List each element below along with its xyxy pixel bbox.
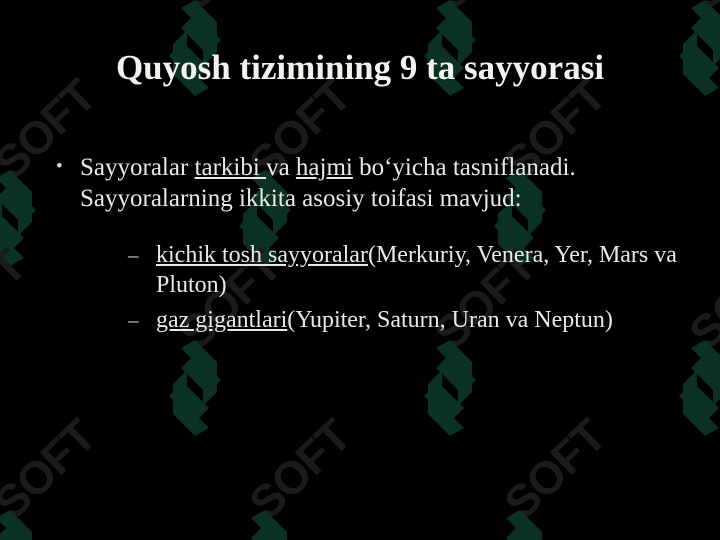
slide-title: Quyosh tizimining 9 ta sayyorasi [36,47,684,89]
bullet-item: •Sayyoralar tarkibi va hajmi bo‘yicha ta… [44,152,684,335]
sub-bullet-text: kichik tosh sayyoralar(Merkuriy, Venera,… [156,240,684,300]
bullet-list: •Sayyoralar tarkibi va hajmi bo‘yicha ta… [44,152,684,335]
sub-bullet-marker-icon: – [128,240,139,270]
slide-body: •Sayyoralar tarkibi va hajmi bo‘yicha ta… [44,152,684,340]
sub-bullet-text-segment: kichik tosh sayyoralar [156,242,368,268]
sub-bullet-text-segment: gaz gigantlari [156,307,287,333]
bullet-text-segment: Sayyoralar [80,154,195,181]
slide-content: Quyosh tizimining 9 ta sayyorasi •Sayyor… [0,0,720,540]
sub-bullet-list: –kichik tosh sayyoralar(Merkuriy, Venera… [80,240,684,335]
bullet-text-segment: va [266,154,296,181]
sub-bullet-text: gaz gigantlari(Yupiter, Saturn, Uran va … [156,305,684,335]
bullet-text: Sayyoralar tarkibi va hajmi bo‘yicha tas… [80,152,684,214]
sub-bullet-marker-icon: – [128,305,139,335]
bullet-text-segment: tarkibi [195,154,267,181]
sub-bullet-text-segment: (Yupiter, Saturn, Uran va Neptun) [287,307,613,333]
sub-bullet-item: –gaz gigantlari(Yupiter, Saturn, Uran va… [80,305,684,335]
sub-bullet-item: –kichik tosh sayyoralar(Merkuriy, Venera… [80,240,684,300]
bullet-text-segment: hajmi [296,154,353,181]
bullet-marker-icon: • [56,151,63,182]
slide-canvas: SOFTSOFTSOFTSOFTSOFTSOFTSOFTSOFTSOFTSOFT… [0,0,720,540]
